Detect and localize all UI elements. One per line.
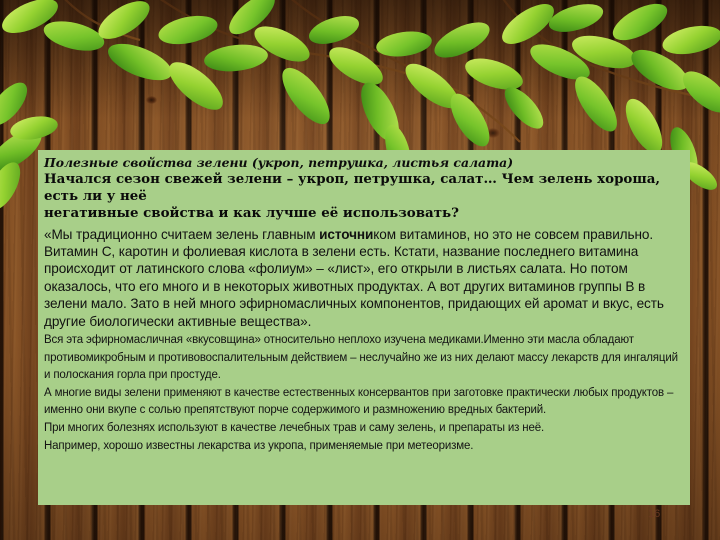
panel-note-paragraph-2: А многие виды зелени применяют в качеств… [44,385,681,420]
content-panel: Полезные свойства зелени (укроп, петрушк… [38,150,690,505]
panel-quote-paragraph: «Мы традиционно считаем зелень главным и… [44,226,681,330]
panel-note-paragraph-1: Вся эта эфирномасличная «вкусовщина» отн… [44,332,681,385]
panel-title: Полезные свойства зелени (укроп, петрушк… [44,155,681,170]
presentation-slide: Полезные свойства зелени (укроп, петрушк… [0,0,720,540]
panel-note-paragraph-3: При многих болезнях используют в качеств… [44,420,681,438]
quote-emphasis-word: источни [319,227,373,242]
panel-note-paragraph-4: Например, хорошо известны лекарства из у… [44,438,681,456]
panel-lead-line-2: негативные свойства и как лучше её испол… [44,205,681,222]
panel-lead-line-1: Начался сезон свежей зелени – укроп, пет… [44,171,681,204]
quote-text-part-1: «Мы традиционно считаем зелень главным [44,227,319,242]
page-number: 16 [648,508,660,520]
